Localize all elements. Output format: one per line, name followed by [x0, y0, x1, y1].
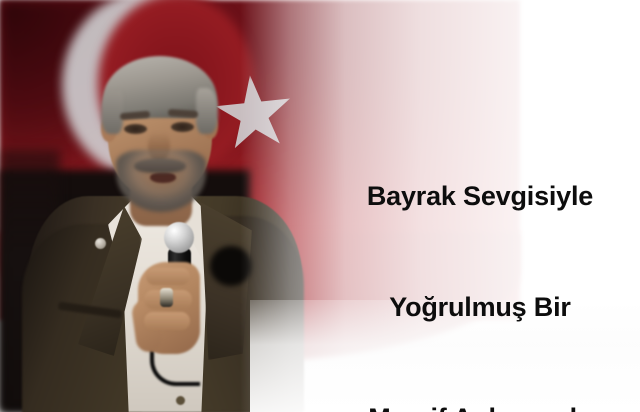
background-dark-blob: [210, 246, 252, 286]
headline-text: Bayrak Sevgisiyle Yoğrulmuş Bir Maarif A…: [330, 104, 630, 412]
headline-line-3: Maarif Anlayışıyla: [330, 400, 630, 412]
speaker-portrait: [0, 0, 330, 412]
eye-left: [124, 124, 147, 134]
lapel-pin-icon: [95, 238, 106, 249]
microphone-head-icon: [164, 222, 194, 253]
eye-right: [171, 122, 194, 132]
jacket-button: [176, 396, 185, 405]
hair-sideburn-left: [101, 90, 123, 134]
finger-index: [146, 268, 190, 285]
finger-ring-finger: [144, 312, 190, 330]
headline-line-1: Bayrak Sevgisiyle: [330, 178, 630, 215]
finger-ring-icon: [160, 288, 173, 307]
hair-sideburn-right: [196, 88, 218, 134]
news-banner: Bayrak Sevgisiyle Yoğrulmuş Bir Maarif A…: [0, 0, 640, 412]
headline-line-2: Yoğrulmuş Bir: [330, 289, 630, 326]
mouth: [150, 172, 176, 183]
moustache: [134, 158, 186, 173]
